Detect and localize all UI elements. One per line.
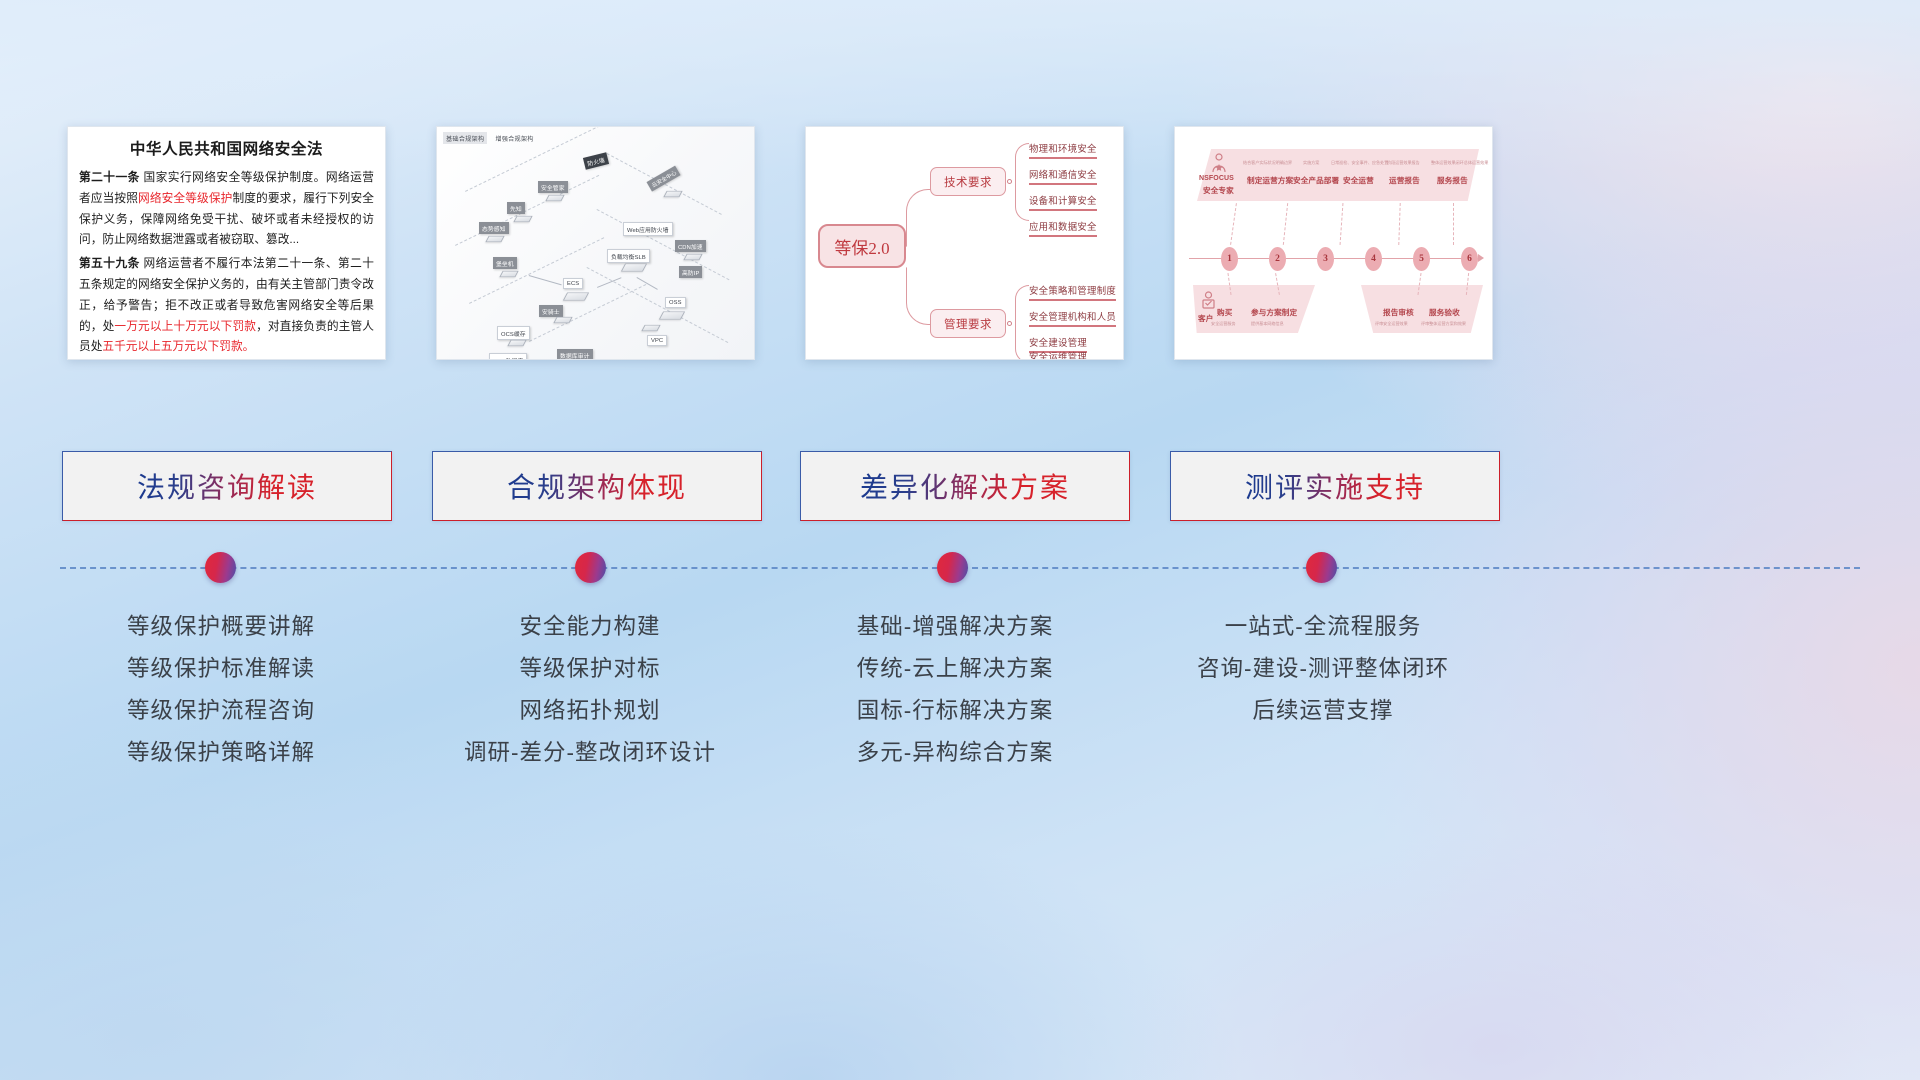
list-item: 一站式-全流程服务 [1140, 606, 1506, 648]
mindmap-branch-technical: 技术要求 [930, 167, 1006, 196]
label-text-regulation-consulting: 法规咨询解读 [137, 466, 317, 506]
list-item: 等级保护策略详解 [38, 732, 404, 774]
card-dengbao-mindmap: 等保2.0 技术要求 物理和环境安全 网络和通信安全 设备和计算安全 应用和数据… [805, 126, 1124, 360]
law-article-59-highlight-2: 五千元以上五万元以下罚款。 [102, 340, 254, 353]
node-database-audit: 数据库审计 [557, 349, 593, 360]
law-paragraph-21: 第二十一条 国家实行网络安全等级保护制度。网络运营者应当按照网络安全等级保护制度… [79, 168, 374, 251]
feature-list-regulation-consulting: 等级保护概要讲解 等级保护标准解读 等级保护流程咨询 等级保护策略详解 [38, 606, 404, 774]
card-service-timeline: NSFOCUS 安全专家 客户 结合客户实际状况明确边界 制定运营方案 实施方案… [1174, 126, 1493, 360]
node-security-knight: 安骑士 [539, 305, 563, 317]
label-box-assessment-support[interactable]: 测评实施支持 [1170, 451, 1500, 521]
timeline-top-title-3: 安全运营 [1343, 175, 1374, 186]
law-paragraph-59: 第五十九条 网络运营者不履行本法第二十一条、第二十五条规定的网络安全保护义务的，… [79, 254, 374, 358]
node-prophet: 先知 [507, 202, 525, 214]
timeline-top-title-4: 运营报告 [1389, 175, 1420, 186]
timeline-bottom-sub-2: 提供基本网络信息 [1251, 321, 1284, 327]
timeline-top-sub-2: 实施方案 [1303, 160, 1319, 166]
timeline-axis-arrow [1478, 254, 1484, 262]
list-item: 多元-异构综合方案 [772, 732, 1138, 774]
list-item: 等级保护标准解读 [38, 648, 404, 690]
timeline-top-sub-4: 阶段运营效果报告 [1387, 160, 1420, 166]
list-item: 咨询-建设-测评整体闭环 [1140, 648, 1506, 690]
mindmap: 等保2.0 技术要求 物理和环境安全 网络和通信安全 设备和计算安全 应用和数据… [806, 127, 1123, 359]
list-item: 等级保护流程咨询 [38, 690, 404, 732]
node-rds-database: RDS数据库 [489, 353, 527, 360]
label-text-compliance-architecture: 合规架构体现 [507, 466, 687, 506]
mindmap-leaf-device-computing-security: 设备和计算安全 [1029, 193, 1097, 211]
node-web-application-firewall: Web应用防火墙 [623, 222, 673, 236]
timeline-step-number-4: 4 [1365, 247, 1382, 271]
timeline-step-number-2: 2 [1269, 247, 1286, 271]
mindmap-leaf-application-data-security: 应用和数据安全 [1029, 219, 1097, 237]
card-cybersecurity-law: 中华人民共和国网络安全法 第二十一条 国家实行网络安全等级保护制度。网络运营者应… [67, 126, 386, 360]
timeline-actor-provider-line1: NSFOCUS [1199, 175, 1234, 182]
card-compliance-architecture: 基础合规架构 增强合规架构 防火墙 安全管家 先知 态势感知 堡垒机 ECS [436, 126, 755, 360]
timeline-marker-2 [575, 552, 606, 583]
node-load-balancer-slb: 负载均衡SLB [607, 249, 650, 263]
label-text-assessment-support: 测评实施支持 [1245, 466, 1425, 506]
timeline-bottom-sub-1: 安全运营服务 [1211, 321, 1236, 327]
node-cdn-acceleration: CDN加速 [675, 240, 706, 252]
mindmap-leaf-physical-environment-security: 物理和环境安全 [1029, 141, 1097, 159]
timeline-step-number-3: 3 [1317, 247, 1334, 271]
mindmap-leaf-security-management-org-personnel: 安全管理机构和人员 [1029, 309, 1116, 327]
mindmap-leaf-network-communication-security: 网络和通信安全 [1029, 167, 1097, 185]
timeline-marker-4 [1306, 552, 1337, 583]
timeline-bottom-title-4: 服务验收 [1429, 307, 1460, 318]
mindmap-collapse-icon-technical[interactable] [1007, 179, 1012, 184]
list-item: 调研-差分-整改闭环设计 [407, 732, 773, 774]
timeline-marker-3 [937, 552, 968, 583]
timeline-actor-provider-line2: 安全专家 [1203, 185, 1234, 196]
timeline-top-title-2: 安全产品部署 [1293, 175, 1339, 186]
list-item: 安全能力构建 [407, 606, 773, 648]
node-oss: OSS [665, 297, 686, 308]
node-anti-ddos-ip: 高防IP [679, 266, 702, 278]
mindmap-leaf-security-operation-management: 安全运维管理 [1029, 349, 1087, 360]
mindmap-root: 等保2.0 [818, 224, 906, 268]
node-vpc: VPC [647, 335, 667, 346]
timeline-bottom-title-2: 参与方案制定 [1251, 307, 1297, 318]
node-ocs-cache: OCS缓存 [497, 326, 530, 340]
timeline-top-sub-1: 结合客户实际状况明确边界 [1243, 160, 1292, 166]
customer-icon [1201, 291, 1216, 311]
feature-list-compliance-architecture: 安全能力构建 等级保护对标 网络拓扑规划 调研-差分-整改闭环设计 [407, 606, 773, 774]
tab-enhanced-architecture[interactable]: 增强合规架构 [492, 132, 536, 144]
label-box-regulation-consulting[interactable]: 法规咨询解读 [62, 451, 392, 521]
node-firewall: 防火墙 [583, 152, 609, 169]
node-security-butler: 安全管家 [538, 181, 568, 193]
list-item: 后续运营支撑 [1140, 690, 1506, 732]
list-item: 国标-行标解决方案 [772, 690, 1138, 732]
label-box-differentiated-solution[interactable]: 差异化解决方案 [800, 451, 1130, 521]
architecture-tabs: 基础合规架构 增强合规架构 [443, 132, 537, 144]
law-title: 中华人民共和国网络安全法 [79, 137, 374, 159]
timeline-bottom-sub-3: 评审安全运营效果 [1375, 321, 1408, 327]
timeline-top-title-5: 服务报告 [1437, 175, 1468, 186]
list-item: 基础-增强解决方案 [772, 606, 1138, 648]
feature-list-assessment-support: 一站式-全流程服务 咨询-建设-测评整体闭环 后续运营支撑 [1140, 606, 1506, 732]
list-item: 传统-云上解决方案 [772, 648, 1138, 690]
node-ecs: ECS [563, 278, 583, 289]
timeline-bottom-title-1: 购买 [1217, 307, 1232, 318]
list-item: 等级保护对标 [407, 648, 773, 690]
label-box-compliance-architecture[interactable]: 合规架构体现 [432, 451, 762, 521]
timeline-top-sub-3: 日常巡检、安全事件、应急处置 [1331, 160, 1388, 166]
law-article-59-highlight-1: 一万元以上十万元以下罚款 [114, 320, 256, 333]
timeline-step-number-5: 5 [1413, 247, 1430, 271]
law-article-21-label: 第二十一条 [79, 171, 140, 184]
timeline-bottom-sub-4: 评审整体运营方案和效果 [1421, 321, 1466, 327]
label-text-differentiated-solution: 差异化解决方案 [860, 466, 1070, 506]
law-article-21-highlight: 网络安全等级保护 [138, 192, 232, 205]
timeline-top-title-1: 制定运营方案 [1247, 175, 1293, 186]
tab-basic-architecture[interactable]: 基础合规架构 [443, 132, 487, 144]
feature-list-differentiated-solution: 基础-增强解决方案 传统-云上解决方案 国标-行标解决方案 多元-异构综合方案 [772, 606, 1138, 774]
timeline-bottom-title-3: 报告审核 [1383, 307, 1414, 318]
timeline-marker-1 [205, 552, 236, 583]
mindmap-leaf-security-policy-management-system: 安全策略和管理制度 [1029, 283, 1116, 301]
timeline-diagram: NSFOCUS 安全专家 客户 结合客户实际状况明确边界 制定运营方案 实施方案… [1175, 127, 1492, 359]
node-cloud-security-center: 云安全中心 [646, 165, 680, 191]
node-situational-awareness: 态势感知 [479, 222, 509, 234]
mindmap-branch-management: 管理要求 [930, 309, 1006, 338]
list-item: 等级保护概要讲解 [38, 606, 404, 648]
node-bastion-host: 堡垒机 [493, 257, 517, 269]
timeline-top-sub-5: 整体运营效果闭环总体运营效果 [1431, 160, 1488, 166]
timeline-step-number-1: 1 [1221, 247, 1238, 271]
mindmap-collapse-icon-management[interactable] [1007, 321, 1012, 326]
security-expert-icon [1211, 153, 1227, 173]
architecture-diagram: 基础合规架构 增强合规架构 防火墙 安全管家 先知 态势感知 堡垒机 ECS [437, 127, 754, 359]
law-article-59-label: 第五十九条 [79, 257, 140, 270]
list-item: 网络拓扑规划 [407, 690, 773, 732]
timeline-step-number-6: 6 [1461, 247, 1478, 271]
